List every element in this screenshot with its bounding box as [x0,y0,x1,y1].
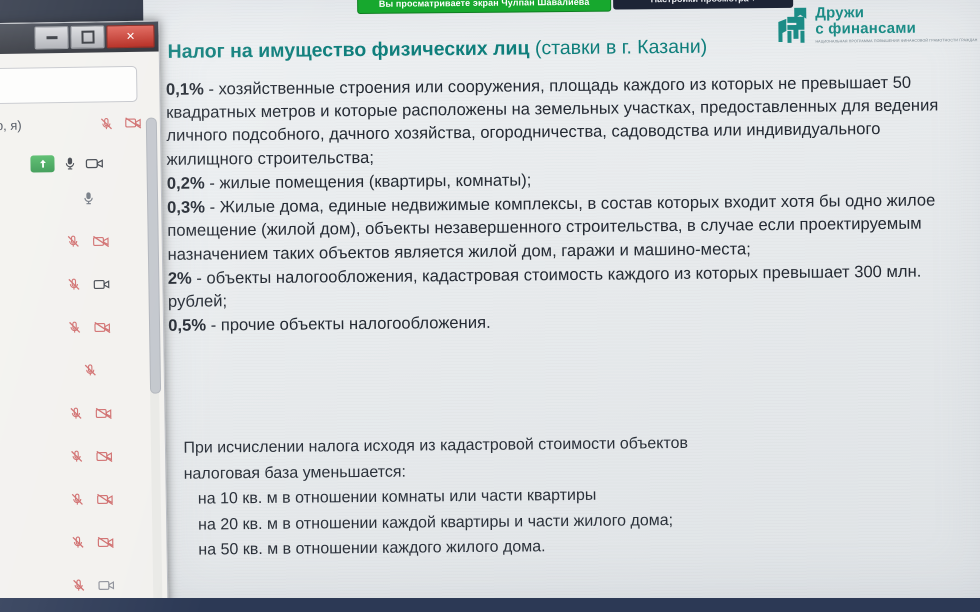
list-item[interactable] [0,526,145,572]
logo-tagline: Национальная программа повышения финансо… [815,38,977,45]
maximize-button[interactable] [70,25,104,49]
mic-muted-icon[interactable] [68,406,83,421]
minimize-icon [46,36,57,39]
rate-description: - объекты налогообложения, кадастровая с… [168,261,922,310]
logo-line-2: с финансами [815,20,977,37]
mic-muted-icon[interactable] [70,492,85,507]
tax-rate-list: 0,1% - хозяйственные строения или сооруж… [166,70,972,338]
list-item[interactable] [0,440,144,486]
rate-value: 0,5% [168,316,206,335]
self-participant-row[interactable]: атор, я) [0,110,142,139]
list-item[interactable] [0,311,141,357]
mic-muted-icon[interactable] [67,320,82,335]
participant-list[interactable] [0,182,146,612]
rate-description: - хозяйственные строения или сооружения,… [166,73,938,169]
camera-off-icon[interactable] [125,116,142,130]
list-item[interactable] [0,182,139,228]
close-button[interactable]: ✕ [106,25,154,49]
list-item[interactable] [0,483,144,529]
camera-off-icon[interactable] [93,234,110,248]
upload-arrow-icon [37,158,48,169]
rate-value: 0,3% [167,198,205,217]
scrollbar-thumb[interactable] [146,118,161,395]
slide-title-main: Налог на имущество физических лиц [167,37,529,62]
conference-window: ✕ атор, я) [0,21,169,612]
shared-screen-slide: Дружи с финансами Национальная программа… [143,0,980,612]
rate-item: 0,1% - хозяйственные строения или сооруж… [166,70,971,171]
view-settings-button[interactable]: Настройки просмотра ▾ [613,0,793,10]
camera-off-icon[interactable] [97,492,114,506]
window-titlebar: ✕ [0,22,159,55]
mic-muted-icon[interactable] [66,234,81,249]
deduction-note: При исчислении налога исходя из кадастро… [183,428,958,563]
list-item[interactable] [0,225,140,271]
dog-logo-icon [774,6,808,46]
self-participant-label: атор, я) [0,117,22,133]
camera-icon[interactable] [93,277,110,291]
logo-line-1: Дружи [815,4,977,21]
window-controls: ✕ [34,25,154,50]
minimize-button[interactable] [34,26,68,50]
slide-title-sub: (ставки в г. Казани) [529,36,707,60]
camera-off-icon[interactable] [95,406,112,420]
rate-description: - прочие объекты налогообложения. [206,313,491,335]
screen-share-banner: Вы просматриваете экран Чулпан Шавалиева [357,0,611,14]
camera-off-icon[interactable] [94,320,111,334]
logo-druzhi-s-finansami: Дружи с финансами Национальная программа… [774,4,977,46]
rate-item: 0,3% - Жилые дома, единые недвижимые ком… [167,188,972,265]
maximize-icon [81,31,94,44]
close-icon: ✕ [126,30,135,43]
microphone-icon[interactable] [63,156,76,171]
mic-muted-icon[interactable] [66,277,81,292]
search-input[interactable] [0,66,138,105]
desk-edge [0,598,980,612]
list-item[interactable] [0,354,142,400]
list-item[interactable] [0,397,143,443]
mic-muted-icon[interactable] [69,449,84,464]
mic-muted-icon[interactable] [99,116,114,131]
rate-description: - жилые помещения (квартиры, комнаты); [205,170,532,192]
self-media-controls [30,154,104,172]
camera-off-icon[interactable] [97,535,114,549]
microphone-icon[interactable] [82,191,95,206]
mic-muted-icon[interactable] [70,535,85,550]
camera-icon[interactable] [85,156,104,170]
mic-muted-icon[interactable] [71,578,86,593]
rate-description: - Жилые дома, единые недвижимые комплекс… [167,191,935,264]
camera-off-icon[interactable] [96,449,113,463]
photographed-screen: Дружи с финансами Национальная программа… [0,0,980,612]
rate-value: 0,2% [167,173,205,192]
participant-list-scrollbar[interactable] [146,118,163,608]
mic-muted-icon[interactable] [83,363,98,378]
rate-value: 2% [168,268,192,287]
share-screen-button[interactable] [30,155,54,172]
camera-icon[interactable] [98,578,115,592]
rate-item: 2% - объекты налогообложения, кадастрова… [168,259,972,313]
rate-value: 0,1% [166,80,204,99]
slide-title: Налог на имущество физических лиц (ставк… [167,35,825,64]
list-item[interactable] [0,268,141,314]
